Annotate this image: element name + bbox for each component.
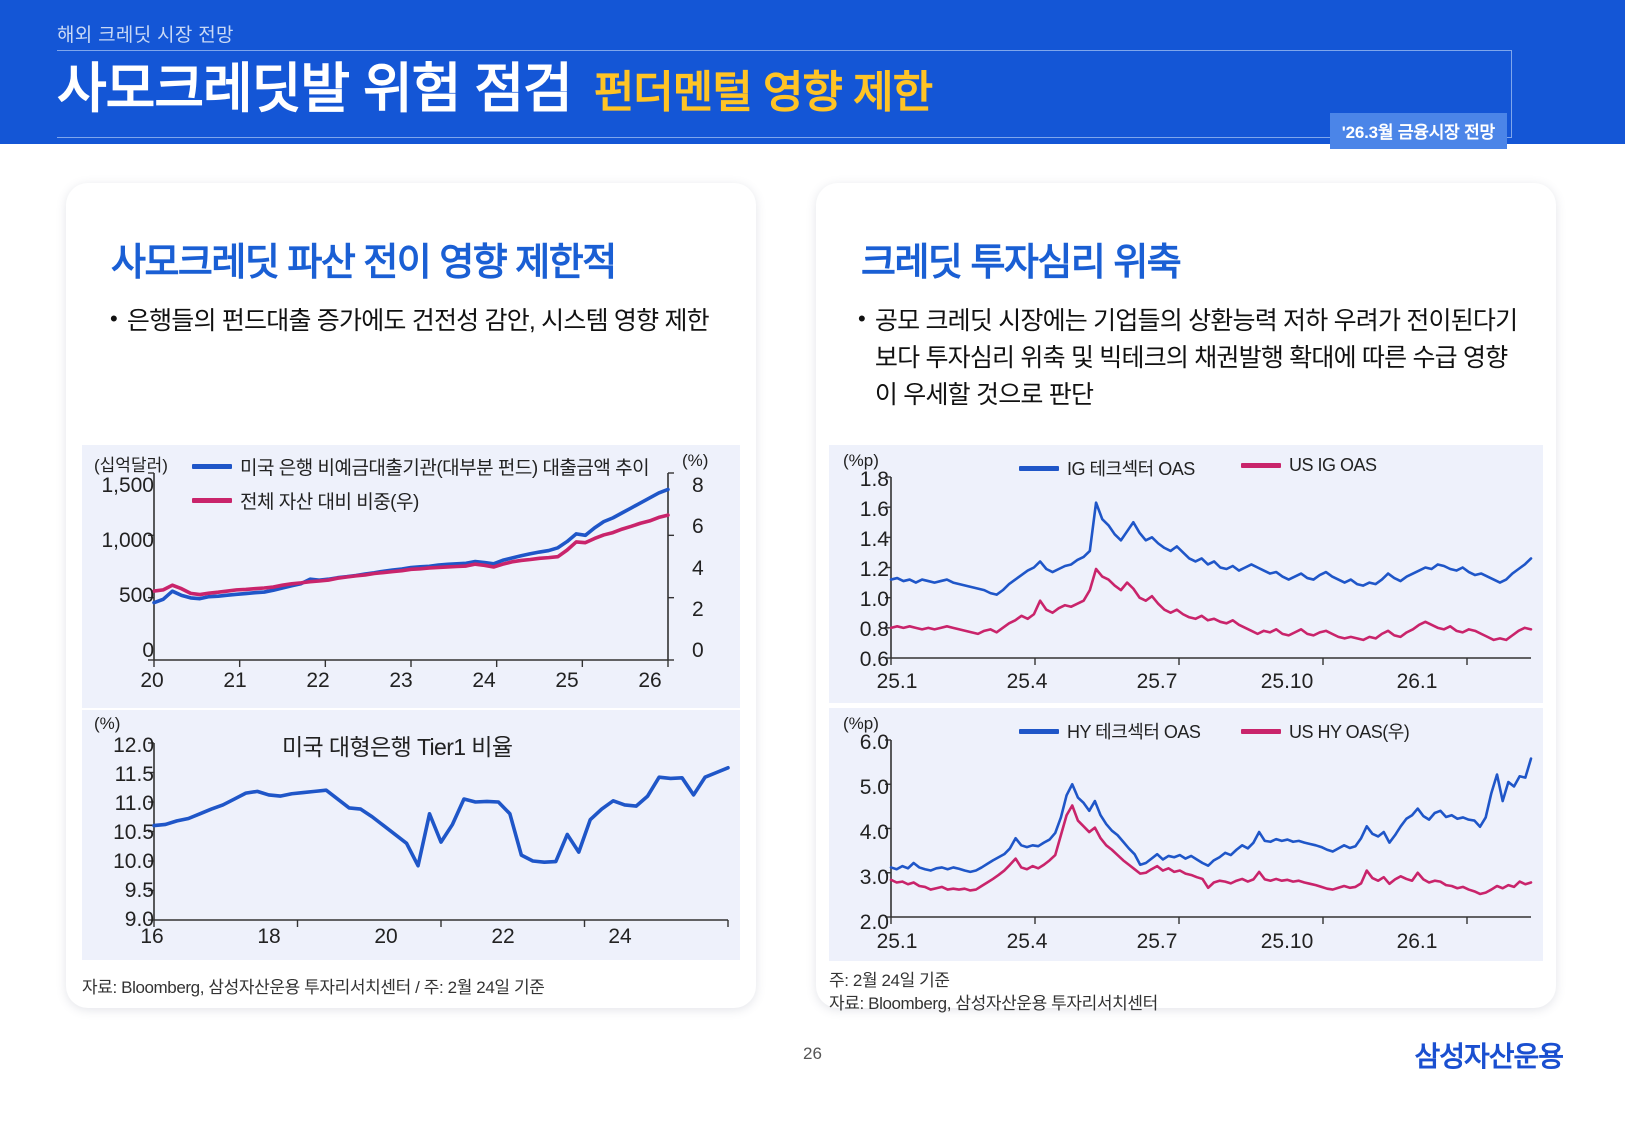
chart1-xtick-21: 21 xyxy=(215,669,255,693)
right-panel-title: 크레딧 투자심리 위축 xyxy=(861,231,1180,286)
chart-nondepository-lending: (십억달러) (%) 미국 은행 비예금대출기관(대부분 펀드) 대출금액 추이… xyxy=(82,445,740,708)
chart1-ytick-0: 0 xyxy=(82,639,154,663)
chart-us-large-bank-tier1: (%) 미국 대형은행 Tier1 비율 12.0 11.5 11.0 10.5… xyxy=(82,710,740,960)
slide-title: 사모크레딧발 위험 점검 펀더멘털 영향 제한 xyxy=(57,62,932,116)
chart4-legend-blue: HY 테크섹터 OAS xyxy=(1019,718,1200,744)
chart1-ytick-1000: 1,000 xyxy=(82,529,154,553)
title-accent: 펀더멘털 영향 제한 xyxy=(594,71,932,115)
header-rule xyxy=(57,50,1512,51)
legend-swatch-blue xyxy=(1019,466,1059,471)
chart-ig-oas: (%p) IG 테크섹터 OAS US IG OAS 1.8 1.6 1.4 1… xyxy=(829,445,1543,703)
chart4-xtick-25_4: 25.4 xyxy=(997,930,1057,954)
chart1-y2tick-4: 4 xyxy=(692,557,726,581)
chart2-ytick-10: 10.0 xyxy=(82,850,154,874)
chart1-y2tick-6: 6 xyxy=(692,515,726,539)
chart4-ytick-5: 5.0 xyxy=(829,776,889,800)
chart3-ytick-0_8: 0.8 xyxy=(829,618,889,642)
chart2-xtick-20: 20 xyxy=(366,925,406,949)
left-panel: 사모크레딧 파산 전이 영향 제한적 • 은행들의 펀드대출 증가에도 건전성 … xyxy=(66,183,756,1008)
chart1-y2tick-2: 2 xyxy=(692,598,726,622)
chart2-ytick-11_5: 11.5 xyxy=(82,763,154,787)
chart3-xtick-25_4: 25.4 xyxy=(997,670,1057,694)
chart1-ylabel: (십억달러) xyxy=(94,451,168,476)
chart3-xtick-25_7: 25.7 xyxy=(1127,670,1187,694)
legend-swatch-pink xyxy=(192,498,232,503)
chart1-y2tick-8: 8 xyxy=(692,474,726,498)
bullet-marker: • xyxy=(858,303,865,414)
chart3-xtick-26_1: 26.1 xyxy=(1387,670,1447,694)
chart3-ytick-1_6: 1.6 xyxy=(829,498,889,522)
chart2-ytick-12: 12.0 xyxy=(82,734,154,758)
chart4-plot xyxy=(829,708,1543,961)
chart3-legend-pink-label: US IG OAS xyxy=(1289,455,1377,476)
legend-swatch-pink xyxy=(1241,463,1281,468)
chart3-legend-blue: IG 테크섹터 OAS xyxy=(1019,455,1195,481)
chart2-title: 미국 대형은행 Tier1 비율 xyxy=(282,728,512,762)
chart2-xtick-22: 22 xyxy=(483,925,523,949)
chart1-legend-pink-label: 전체 자산 대비 비중(우) xyxy=(240,487,419,514)
left-panel-bullet: • 은행들의 펀드대출 증가에도 건전성 감안, 시스템 영향 제한 xyxy=(110,303,720,340)
chart2-xtick-16: 16 xyxy=(132,925,172,949)
chart2-ytick-9_5: 9.5 xyxy=(82,879,154,903)
chart4-ytick-3: 3.0 xyxy=(829,866,889,890)
left-panel-title: 사모크레딧 파산 전이 영향 제한적 xyxy=(111,231,616,286)
chart3-plot xyxy=(829,445,1543,703)
chart1-xtick-24: 24 xyxy=(464,669,504,693)
chart1-ytick-500: 500 xyxy=(82,584,154,608)
chart3-ytick-1_2: 1.2 xyxy=(829,558,889,582)
title-main: 사모크레딧발 위험 점검 xyxy=(57,62,572,116)
chart1-legend-pink: 전체 자산 대비 비중(우) xyxy=(192,487,419,514)
chart4-ytick-6: 6.0 xyxy=(829,731,889,755)
slide-header: 해외 크레딧 시장 전망 사모크레딧발 위험 점검 펀더멘털 영향 제한 '26… xyxy=(0,0,1625,144)
chart4-legend-pink-label: US HY OAS(우) xyxy=(1289,718,1409,744)
right-bullet-text: 공모 크레딧 시장에는 기업들의 상환능력 저하 우려가 전이된다기 보다 투자… xyxy=(875,303,1518,414)
right-panel-note: 주: 2월 24일 기준 xyxy=(829,966,950,991)
chart2-xtick-24: 24 xyxy=(600,925,640,949)
legend-swatch-blue xyxy=(192,464,232,469)
chart2-ytick-10_5: 10.5 xyxy=(82,821,154,845)
chart1-legend-blue: 미국 은행 비예금대출기관(대부분 펀드) 대출금액 추이 xyxy=(192,453,649,480)
legend-swatch-pink xyxy=(1241,729,1281,734)
chart1-xtick-23: 23 xyxy=(381,669,421,693)
chart3-ytick-1_4: 1.4 xyxy=(829,528,889,552)
chart4-xtick-25_1: 25.1 xyxy=(867,930,927,954)
chart3-ytick-1_0: 1.0 xyxy=(829,588,889,612)
chart1-xtick-22: 22 xyxy=(298,669,338,693)
chart4-legend-blue-label: HY 테크섹터 OAS xyxy=(1067,718,1200,744)
chart1-legend-blue-label: 미국 은행 비예금대출기관(대부분 펀드) 대출금액 추이 xyxy=(240,453,649,480)
chart1-y2label: (%) xyxy=(682,451,708,471)
chart4-ytick-4: 4.0 xyxy=(829,821,889,845)
page-number: 26 xyxy=(0,1044,1625,1064)
chart2-ytick-11: 11.0 xyxy=(82,792,154,816)
chart1-xtick-20: 20 xyxy=(132,669,172,693)
bullet-marker: • xyxy=(110,303,117,340)
chart3-legend-pink: US IG OAS xyxy=(1241,455,1377,476)
right-panel-bullet: • 공모 크레딧 시장에는 기업들의 상환능력 저하 우려가 전이된다기 보다 … xyxy=(858,303,1518,414)
header-overline: 해외 크레딧 시장 전망 xyxy=(57,20,234,47)
chart2-ylabel: (%) xyxy=(94,714,120,734)
report-badge: '26.3월 금융시장 전망 xyxy=(1330,113,1507,149)
chart4-xtick-25_10: 25.10 xyxy=(1252,930,1322,954)
chart-hy-oas: (%p) HY 테크섹터 OAS US HY OAS(우) 6.0 5.0 4.… xyxy=(829,708,1543,961)
chart3-xtick-25_10: 25.10 xyxy=(1252,670,1322,694)
chart3-legend-blue-label: IG 테크섹터 OAS xyxy=(1067,455,1195,481)
chart3-ytick-0_6: 0.6 xyxy=(829,648,889,672)
chart3-ytick-1_8: 1.8 xyxy=(829,468,889,492)
chart1-y2tick-0: 0 xyxy=(692,639,726,663)
right-panel: 크레딧 투자심리 위축 • 공모 크레딧 시장에는 기업들의 상환능력 저하 우… xyxy=(816,183,1556,1008)
legend-swatch-blue xyxy=(1019,729,1059,734)
left-panel-source: 자료: Bloomberg, 삼성자산운용 투자리서치센터 / 주: 2월 24… xyxy=(82,973,544,998)
left-bullet-text: 은행들의 펀드대출 증가에도 건전성 감안, 시스템 영향 제한 xyxy=(127,303,709,340)
chart4-legend-pink: US HY OAS(우) xyxy=(1241,718,1409,744)
company-logo: 삼성자산운용 xyxy=(1414,1035,1563,1075)
chart3-xtick-25_1: 25.1 xyxy=(867,670,927,694)
chart1-xtick-25: 25 xyxy=(547,669,587,693)
chart2-xtick-18: 18 xyxy=(249,925,289,949)
chart1-xtick-26: 26 xyxy=(630,669,670,693)
right-panel-source: 자료: Bloomberg, 삼성자산운용 투자리서치센터 xyxy=(829,989,1158,1014)
chart4-xtick-26_1: 26.1 xyxy=(1387,930,1447,954)
chart1-ytick-1500: 1,500 xyxy=(82,474,154,498)
chart4-xtick-25_7: 25.7 xyxy=(1127,930,1187,954)
